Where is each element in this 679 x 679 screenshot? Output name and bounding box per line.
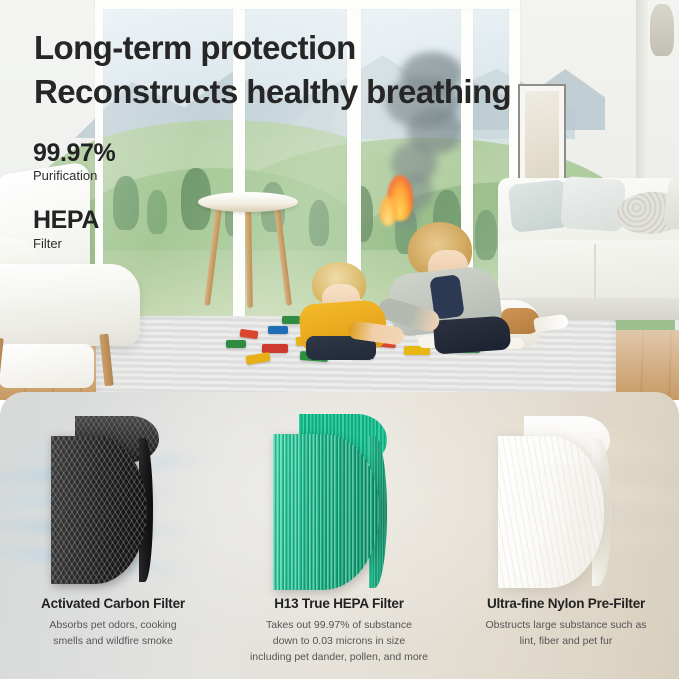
ultra-fine-nylon-filter-image bbox=[496, 410, 636, 590]
filter-description: Takes out 99.97% of substance down to 0.… bbox=[232, 618, 446, 666]
badge-label: Purification bbox=[33, 168, 115, 183]
filter-card-activated-carbon: Activated Carbon Filter Absorbs pet odor… bbox=[0, 392, 226, 679]
tree bbox=[309, 200, 329, 246]
desc-line: Takes out 99.97% of substance bbox=[232, 618, 446, 634]
desc-line: down to 0.03 microns in size bbox=[232, 634, 446, 650]
filter-list: Activated Carbon Filter Absorbs pet odor… bbox=[0, 392, 679, 679]
desc-line: Absorbs pet odors, cooking bbox=[6, 618, 220, 634]
filter-title: Ultra-fine Nylon Pre-Filter bbox=[459, 596, 673, 611]
stat-badges: 99.97% Purification HEPA Filter bbox=[33, 140, 115, 275]
desc-line: lint, fiber and pet fur bbox=[459, 634, 673, 650]
desc-line: smells and wildfire smoke bbox=[6, 634, 220, 650]
filter-caption: Activated Carbon Filter Absorbs pet odor… bbox=[0, 596, 226, 650]
decor-vase bbox=[650, 4, 674, 56]
filter-layers-panel: Activated Carbon Filter Absorbs pet odor… bbox=[0, 392, 679, 679]
badge-hepa: HEPA Filter bbox=[33, 207, 115, 250]
badge-value: HEPA bbox=[33, 207, 115, 233]
filter-card-h13-true-hepa: H13 True HEPA Filter Takes out 99.97% of… bbox=[226, 392, 452, 679]
cushion bbox=[560, 176, 625, 232]
filter-description: Obstructs large substance such as lint, … bbox=[459, 618, 673, 650]
filter-title: H13 True HEPA Filter bbox=[232, 596, 446, 611]
headline-line-2: Reconstructs healthy breathing bbox=[34, 70, 644, 114]
badge-label: Filter bbox=[33, 236, 115, 251]
h13-true-hepa-filter-image bbox=[269, 410, 409, 590]
side-table bbox=[198, 192, 298, 312]
headline-line-1: Long-term protection bbox=[34, 29, 356, 66]
filter-caption: Ultra-fine Nylon Pre-Filter Obstructs la… bbox=[453, 596, 679, 650]
filter-description: Absorbs pet odors, cooking smells and wi… bbox=[6, 618, 220, 650]
desc-line: Obstructs large substance such as bbox=[459, 618, 673, 634]
badge-purification: 99.97% Purification bbox=[33, 140, 115, 183]
activated-carbon-filter-image bbox=[43, 410, 183, 590]
filter-title: Activated Carbon Filter bbox=[6, 596, 220, 611]
badge-value: 99.97% bbox=[33, 140, 115, 166]
hero-photo: Long-term protection Reconstructs health… bbox=[0, 0, 679, 400]
page-title: Long-term protection Reconstructs health… bbox=[34, 26, 644, 114]
filter-card-ultra-fine-nylon: Ultra-fine Nylon Pre-Filter Obstructs la… bbox=[453, 392, 679, 679]
promo-image: Long-term protection Reconstructs health… bbox=[0, 0, 679, 679]
child-younger bbox=[296, 262, 408, 358]
desc-line: including pet dander, pollen, and more bbox=[232, 650, 446, 666]
filter-caption: H13 True HEPA Filter Takes out 99.97% of… bbox=[226, 596, 452, 666]
window-mullion bbox=[95, 0, 520, 9]
